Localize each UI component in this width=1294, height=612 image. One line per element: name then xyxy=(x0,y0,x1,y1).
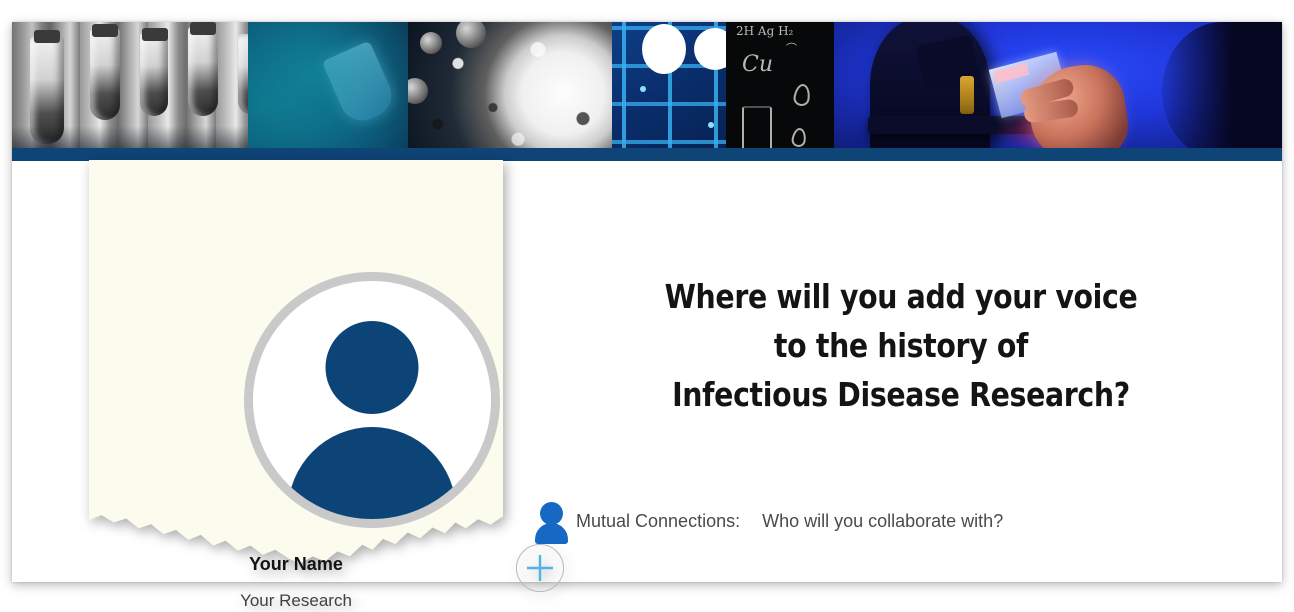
vial-cap-icon xyxy=(142,28,168,41)
vial-cap-icon xyxy=(34,30,60,43)
hero-heading: Where will you add your voice to the his… xyxy=(573,272,1228,419)
person-head xyxy=(540,502,563,525)
vial-cap-icon xyxy=(190,22,216,35)
profile-card: Your Name Your Research Imperial College… xyxy=(89,160,503,572)
highlight-circle xyxy=(642,24,686,74)
vial-icon xyxy=(188,26,218,116)
avatar-head-icon xyxy=(326,321,419,414)
chalk-bracket: ⌒ xyxy=(786,40,797,56)
vial-icon xyxy=(90,28,120,120)
plus-icon xyxy=(525,553,555,583)
banner-segment-chalkboard: 2H Ag H₂ Cu ⌒ xyxy=(726,22,846,160)
person-icon xyxy=(534,498,568,544)
banner-segment-microscope xyxy=(834,22,1282,160)
circuit-node-icon xyxy=(640,86,646,92)
vial-cap-icon xyxy=(92,24,118,37)
virus-particle-icon xyxy=(420,32,442,54)
mutual-connections-label: Mutual Connections: xyxy=(576,511,740,532)
mutual-connections-value: Who will you collaborate with? xyxy=(762,511,1003,532)
avatar xyxy=(244,272,500,528)
slide-label xyxy=(993,63,1029,83)
chalk-test-tube-icon xyxy=(742,106,772,154)
banner-collage: 2H Ag H₂ Cu ⌒ xyxy=(12,22,1282,160)
sample-tube-icon xyxy=(322,41,399,128)
profile-name: Your Name xyxy=(89,554,503,575)
chalk-droplet-icon xyxy=(793,83,812,107)
person-body xyxy=(535,523,568,544)
banner-dark-edge xyxy=(1162,22,1282,160)
circuit-node-icon xyxy=(708,122,714,128)
microscope-objective-lens xyxy=(960,76,974,114)
hero-line-2: to the history of xyxy=(573,321,1228,370)
profile-promo-screen: 2H Ag H₂ Cu ⌒ xyxy=(0,0,1294,612)
vial-icon xyxy=(140,32,168,116)
chalk-droplet-icon xyxy=(791,127,808,148)
chalk-formula-top: 2H Ag H₂ xyxy=(736,24,793,38)
chalk-symbol: Cu xyxy=(742,52,773,77)
avatar-body-icon xyxy=(288,427,456,527)
profile-research: Your Research xyxy=(89,591,503,611)
hero-line-3: Infectious Disease Research? xyxy=(573,370,1228,419)
mutual-connections-row: Mutual Connections: Who will you collabo… xyxy=(534,498,1003,544)
add-connection-button[interactable] xyxy=(516,544,564,592)
hero-line-1: Where will you add your voice xyxy=(573,272,1228,321)
